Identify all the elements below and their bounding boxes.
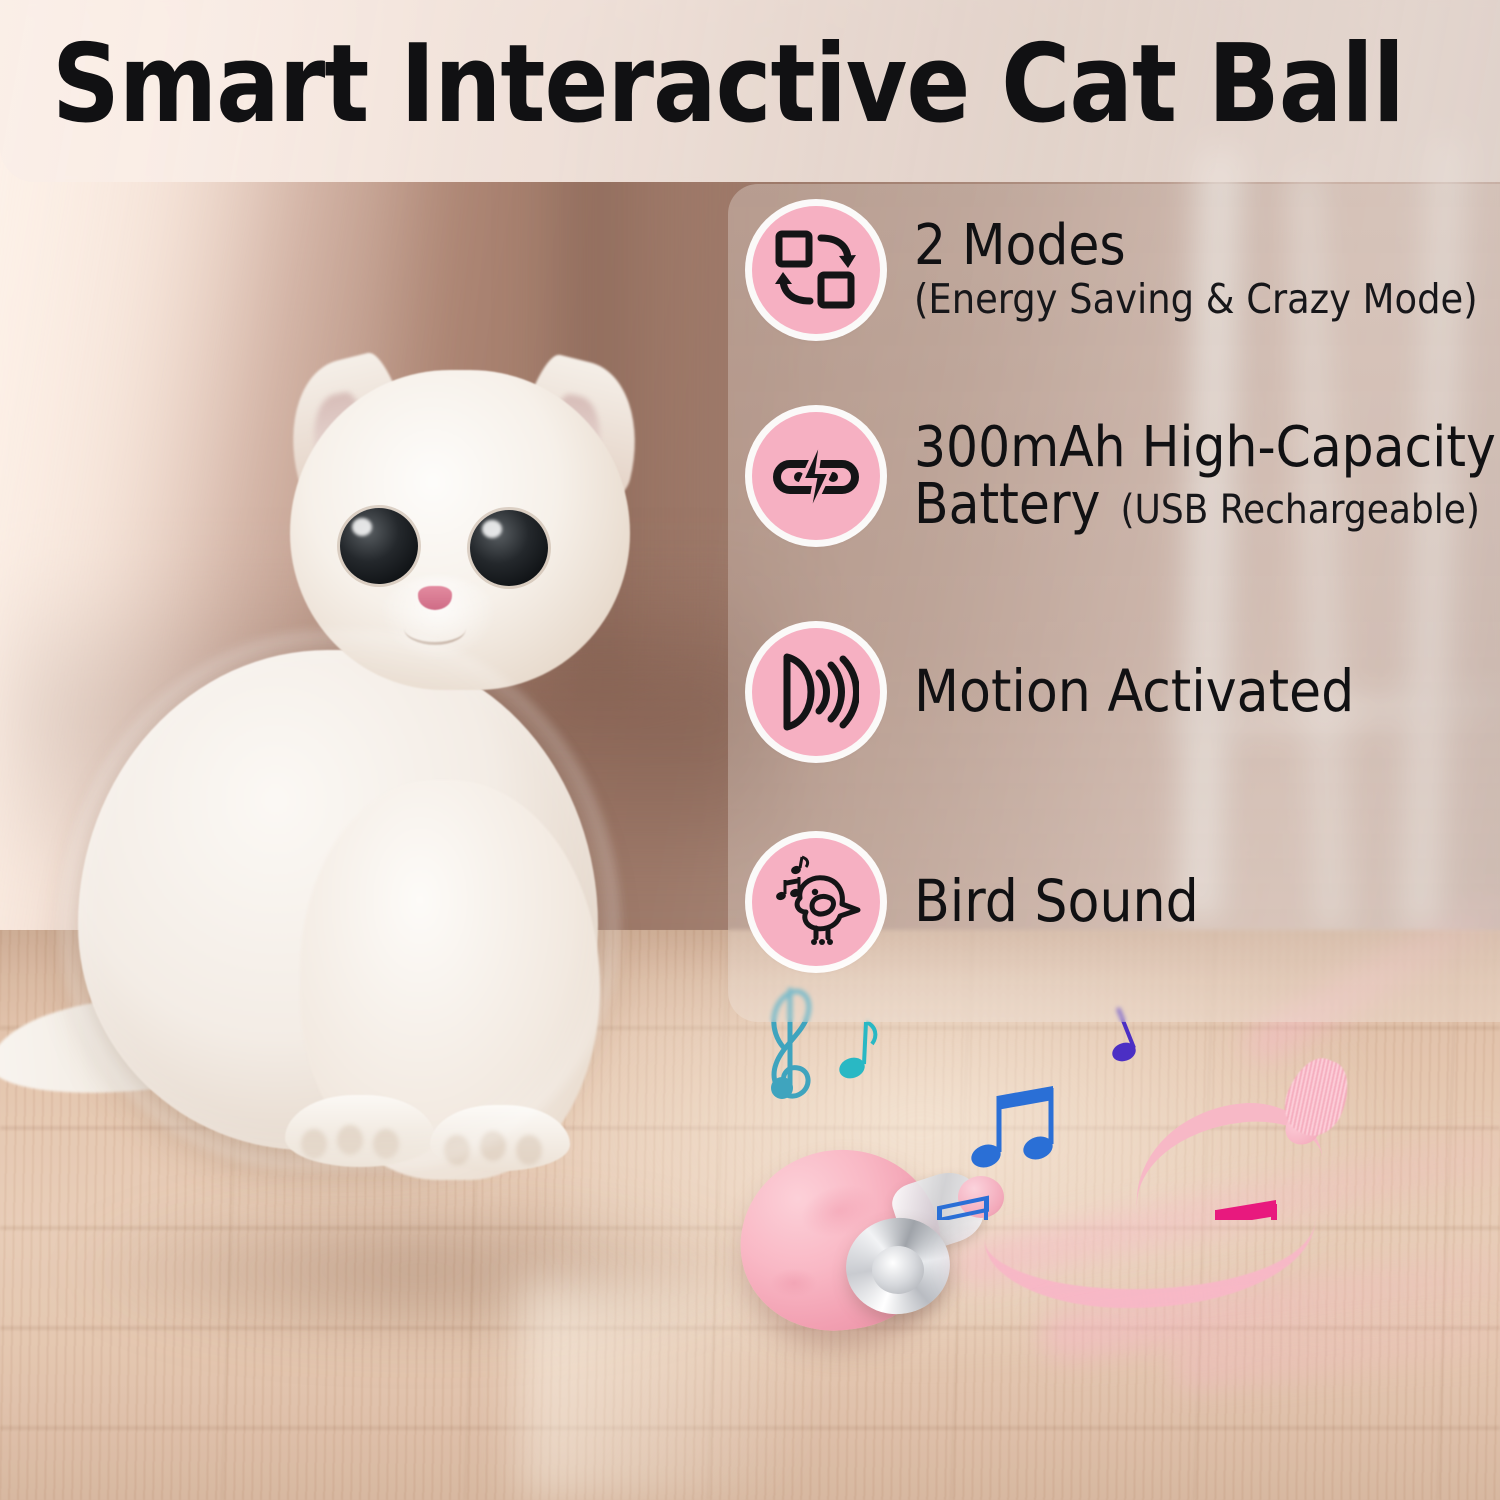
cat-fur-highlight	[60, 630, 620, 1170]
cat-eye-right	[470, 510, 548, 586]
feature-item-battery: 300mAh High-Capacity Battery (USB Rechar…	[752, 412, 1496, 540]
header-banner: Smart Interactive Cat Ball	[0, 0, 1500, 182]
feature-item-modes: 2 Modes (Energy Saving & Crazy Mode)	[752, 206, 1478, 334]
music-note	[968, 1086, 1055, 1171]
feature-subtitle: (USB Rechargeable)	[1120, 488, 1480, 533]
battery-bolt-icon	[752, 412, 880, 540]
feature-title-line2: Battery	[914, 476, 1100, 533]
product-marketing-image: Smart Interactive Cat Ball 2 Modes (Ener…	[0, 0, 1500, 1500]
music-note	[1185, 1200, 1279, 1220]
music-note	[912, 1198, 991, 1220]
bird-singing-icon	[752, 838, 880, 966]
motion-sensor-waves-icon	[752, 628, 880, 756]
feature-title: Motion Activated	[914, 662, 1354, 721]
feature-title: Bird Sound	[914, 872, 1199, 931]
feature-item-motion: Motion Activated	[752, 628, 1354, 756]
page-title: Smart Interactive Cat Ball	[52, 28, 1429, 142]
music-note	[837, 1022, 876, 1082]
feature-title: 2 Modes	[914, 217, 1478, 274]
cat-eye-left	[340, 508, 418, 584]
cat-eye-glint-right	[482, 520, 502, 538]
cat-eye-glint-left	[352, 518, 372, 536]
two-modes-swap-icon	[752, 206, 880, 334]
ball-embossed-paw	[770, 1268, 818, 1298]
feature-item-bird: Bird Sound	[752, 838, 1199, 966]
feature-title: 300mAh High-Capacity	[914, 419, 1496, 476]
ball-chrome-core	[872, 1246, 924, 1294]
feature-subtitle: (Energy Saving & Crazy Mode)	[914, 277, 1478, 323]
cat-photo-subject	[0, 360, 780, 1260]
